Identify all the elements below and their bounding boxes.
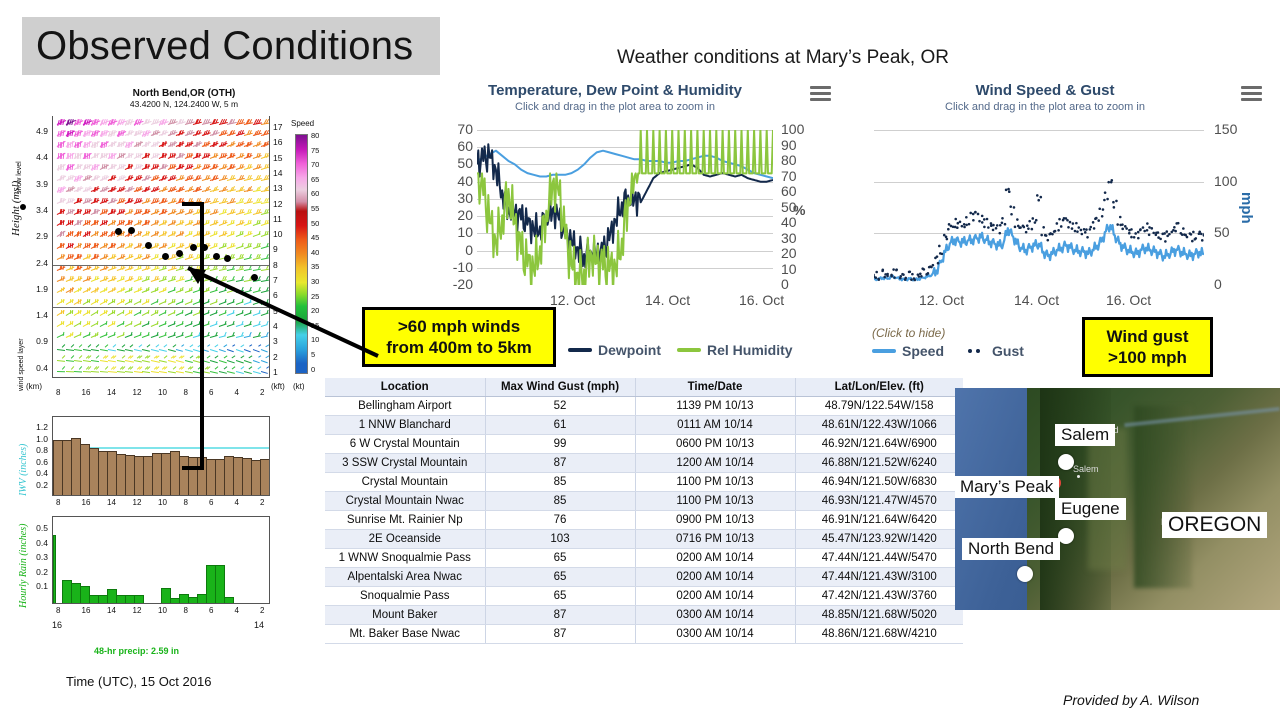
legend-label-dewpoint: Dewpoint xyxy=(598,342,661,358)
table-cell-0: Crystal Mountain Nwac xyxy=(325,492,485,511)
table-cell-2: 0716 PM 10/13 xyxy=(635,530,795,549)
wind-barb xyxy=(261,142,270,151)
table-row: 6 W Crystal Mountain990600 PM 10/1346.92… xyxy=(325,435,963,454)
profiler-ytick-km: 0.9 xyxy=(22,336,48,346)
chart2-click-to-hide-hint: (Click to hide) xyxy=(872,326,945,340)
profile-annotation-bracket xyxy=(182,202,204,470)
wind-barb xyxy=(261,176,270,185)
profiler-station-coords: 43.4200 N, 124.2400 W, 5 m xyxy=(130,99,238,109)
table-cell-3: 48.79N/122.54W/158 xyxy=(795,397,963,416)
callout-wind-gust: Wind gust >100 mph xyxy=(1082,317,1213,377)
wind-profiler-panel: North Bend,OR (OTH) 43.4200 N, 124.2400 … xyxy=(14,86,334,686)
table-cell-1: 52 xyxy=(485,397,635,416)
colorbar-tick: 50 xyxy=(311,219,319,228)
table-cell-3: 46.88N/121.52W/6240 xyxy=(795,454,963,473)
chart1-menu-icon[interactable] xyxy=(810,86,831,101)
colorbar-tick: 75 xyxy=(311,146,319,155)
chart-ytick-right: 0 xyxy=(781,276,789,292)
map-city-label: North Bend xyxy=(962,538,1060,560)
chart-ytick-left: 40 xyxy=(433,173,473,189)
table-cell-0: 6 W Crystal Mountain xyxy=(325,435,485,454)
dewpoint-line-swatch xyxy=(568,348,592,352)
profiler-xtick: 12 xyxy=(133,388,142,397)
legend-item-rel-humidity[interactable]: Rel Humidity xyxy=(677,342,793,358)
speed-line-swatch xyxy=(872,349,896,353)
table-cell-3: 48.86N/121.68W/4210 xyxy=(795,625,963,644)
chart1-title: Temperature, Dew Point & Humidity xyxy=(430,82,800,99)
snow-level-point xyxy=(115,228,122,235)
table-row: Crystal Mountain851100 PM 10/1346.94N/12… xyxy=(325,473,963,492)
colorbar-title: Speed xyxy=(291,119,314,128)
table-row: Mount Baker870300 AM 10/1448.85N/121.68W… xyxy=(325,606,963,625)
colorbar-tick: 0 xyxy=(311,365,315,374)
colorbar-tick: 70 xyxy=(311,160,319,169)
table-row: Bellingham Airport521139 PM 10/1348.79N/… xyxy=(325,397,963,416)
wind-barb xyxy=(261,120,270,129)
callout-wind-profile: >60 mph winds from 400m to 5km xyxy=(362,307,556,367)
profiler-unit-km: (km) xyxy=(26,382,42,391)
table-body: Bellingham Airport521139 PM 10/1348.79N/… xyxy=(325,397,963,644)
table-row: 1 WNW Snoqualmie Pass650200 AM 10/1447.4… xyxy=(325,549,963,568)
time-axis-caption: Time (UTC), 15 Oct 2016 xyxy=(66,674,211,689)
profiler-xtick: 6 xyxy=(209,606,213,615)
profiler-xtick: 12 xyxy=(133,498,142,507)
table-cell-1: 99 xyxy=(485,435,635,454)
legend-item-gust[interactable]: Gust xyxy=(962,343,1024,359)
table-cell-0: Mt. Baker Base Nwac xyxy=(325,625,485,644)
profiler-xtick: 6 xyxy=(209,388,213,397)
profiler-xtick: 16 xyxy=(82,498,91,507)
table-cell-3: 46.91N/121.64W/6420 xyxy=(795,511,963,530)
profiler-ytick-km: 4.4 xyxy=(22,152,48,162)
map-city-label: Salem xyxy=(1055,424,1115,446)
profiler-ytick-kft: 10 xyxy=(273,229,282,239)
chart-ytick-right: 40 xyxy=(781,214,797,230)
chart-ytick-left: -10 xyxy=(433,259,473,275)
profiler-xtick: 8 xyxy=(56,498,60,507)
rel-humidity-line-swatch xyxy=(677,348,701,352)
wind-barb xyxy=(261,199,270,208)
profiler-xtick: 8 xyxy=(56,606,60,615)
max-wind-gust-table: LocationMax Wind Gust (mph)Time/DateLat/… xyxy=(325,378,963,644)
chart-ytick-right: 50 xyxy=(1214,224,1230,240)
table-header-row: LocationMax Wind Gust (mph)Time/DateLat/… xyxy=(325,378,963,397)
legend-label-gust: Gust xyxy=(992,343,1024,359)
table-cell-2: 1200 AM 10/14 xyxy=(635,454,795,473)
table-cell-1: 85 xyxy=(485,492,635,511)
table-cell-0: Bellingham Airport xyxy=(325,397,485,416)
chart-ytick-left: 50 xyxy=(433,155,473,171)
chart-xtick: 12. Oct xyxy=(919,292,964,308)
table-row: 1 NNW Blanchard610111 AM 10/1448.61N/122… xyxy=(325,416,963,435)
rain-ytick: 0.5 xyxy=(22,523,48,533)
chart-series-svg xyxy=(874,130,1204,285)
profiler-xtick: 10 xyxy=(158,498,167,507)
rain-ytick: 0.1 xyxy=(22,581,48,591)
table-cell-2: 0600 PM 10/13 xyxy=(635,435,795,454)
precip-total-note: 48-hr precip: 2.59 in xyxy=(94,646,179,656)
chart-ytick-right: 20 xyxy=(781,245,797,261)
profiler-station-title: North Bend,OR (OTH) 43.4200 N, 124.2400 … xyxy=(94,88,274,110)
credit-text: Provided by A. Wilson xyxy=(1063,692,1199,708)
table-header-2: Time/Date xyxy=(635,378,795,397)
profiler-ytick-km: 0.4 xyxy=(22,363,48,373)
profiler-xtick: 6 xyxy=(209,498,213,507)
rain-ytick: 0.2 xyxy=(22,567,48,577)
table-cell-0: 2E Oceanside xyxy=(325,530,485,549)
chart1-subtitle: Click and drag in the plot area to zoom … xyxy=(430,101,800,113)
legend-label-rel-humidity: Rel Humidity xyxy=(707,342,793,358)
profiler-xtick: 14 xyxy=(107,606,116,615)
wind-barb xyxy=(261,221,270,230)
profiler-xtick: 2 xyxy=(260,606,264,615)
colorbar-tick: 80 xyxy=(311,131,319,140)
profiler-ytick-km: 1.4 xyxy=(22,310,48,320)
table-cell-0: Alpentalski Area Nwac xyxy=(325,568,485,587)
table-cell-2: 0300 AM 10/14 xyxy=(635,625,795,644)
chart-ytick-right: 30 xyxy=(781,230,797,246)
profiler-ytick-kft: 13 xyxy=(273,183,282,193)
table-cell-2: 1100 PM 10/13 xyxy=(635,473,795,492)
iwv-ytick: 0.4 xyxy=(22,468,48,478)
map-basemap-dot xyxy=(1077,475,1080,478)
rain-ytick: 0.4 xyxy=(22,538,48,548)
table-cell-3: 47.42N/121.43W/3760 xyxy=(795,587,963,606)
iwv-ytick: 1.0 xyxy=(22,434,48,444)
page-title-box: Observed Conditions xyxy=(22,17,440,75)
profiler-xtick: 8 xyxy=(184,606,188,615)
table-cell-1: 61 xyxy=(485,416,635,435)
chart-xtick: 14. Oct xyxy=(645,292,690,308)
wind-barb xyxy=(261,367,270,376)
table-cell-3: 46.93N/121.47W/4570 xyxy=(795,492,963,511)
table-cell-3: 48.85N/121.68W/5020 xyxy=(795,606,963,625)
colorbar-tick: 45 xyxy=(311,233,319,242)
rain-bar xyxy=(134,595,144,603)
profiler-ytick-kft: 12 xyxy=(273,199,282,209)
rain-bar xyxy=(53,535,56,603)
table-cell-0: 1 WNW Snoqualmie Pass xyxy=(325,549,485,568)
chart-ytick-right: 50 xyxy=(781,199,797,215)
chart2-subtitle: Click and drag in the plot area to zoom … xyxy=(860,101,1230,113)
colorbar-tick: 60 xyxy=(311,189,319,198)
profiler-xtick: 14 xyxy=(107,388,116,397)
table-cell-0: Sunrise Mt. Rainier Np xyxy=(325,511,485,530)
profiler-xtick: 16 xyxy=(82,388,91,397)
profiler-ytick-km: 2.4 xyxy=(22,258,48,268)
table-row: Crystal Mountain Nwac851100 PM 10/1346.9… xyxy=(325,492,963,511)
table-cell-1: 85 xyxy=(485,473,635,492)
gust-dots-swatch xyxy=(962,349,986,353)
map-label-marys-peak: Mary’s Peak xyxy=(955,476,1059,498)
colorbar-tick: 65 xyxy=(311,175,319,184)
table-cell-1: 65 xyxy=(485,587,635,606)
profiler-ytick-kft: 11 xyxy=(273,214,282,224)
chart-ytick-left: 70 xyxy=(433,121,473,137)
table-cell-0: Mount Baker xyxy=(325,606,485,625)
table-cell-1: 65 xyxy=(485,549,635,568)
chart2-menu-icon[interactable] xyxy=(1241,86,1262,101)
profiler-ytick-km: 4.9 xyxy=(22,126,48,136)
chart2-y2-axis-label: mph xyxy=(1238,192,1255,224)
chart-ytick-left: 20 xyxy=(433,207,473,223)
chart-xtick: 16. Oct xyxy=(739,292,784,308)
table-cell-1: 87 xyxy=(485,625,635,644)
profiler-x-edge-left: 16 xyxy=(52,620,62,630)
wind-barb xyxy=(261,131,270,140)
table-cell-1: 76 xyxy=(485,511,635,530)
profiler-x-edge-right: 14 xyxy=(254,620,264,630)
table-cell-3: 47.44N/121.43W/3100 xyxy=(795,568,963,587)
page-title: Observed Conditions xyxy=(22,24,413,69)
profiler-ytick-km: 3.9 xyxy=(22,179,48,189)
hourly-rain-plot xyxy=(52,516,270,604)
colorbar-unit: (kt) xyxy=(293,382,305,391)
table-cell-2: 1139 PM 10/13 xyxy=(635,397,795,416)
profiler-ytick-km: 3.4 xyxy=(22,205,48,215)
chart-ytick-right: 100 xyxy=(1214,173,1237,189)
slide-root: Observed Conditions Weather conditions a… xyxy=(0,0,1280,720)
table-cell-3: 46.92N/121.64W/6900 xyxy=(795,435,963,454)
legend-item-dewpoint[interactable]: Dewpoint xyxy=(568,342,661,358)
table-cell-3: 46.94N/121.50W/6830 xyxy=(795,473,963,492)
chart2-legend: Speed Gust xyxy=(872,343,1024,359)
table-row: Mt. Baker Base Nwac870300 AM 10/1448.86N… xyxy=(325,625,963,644)
legend-label-speed: Speed xyxy=(902,343,944,359)
table-cell-2: 0111 AM 10/14 xyxy=(635,416,795,435)
profiler-ytick-kft: 15 xyxy=(273,153,282,163)
iwv-bar xyxy=(260,459,270,495)
profiler-xtick: 2 xyxy=(260,388,264,397)
table-cell-1: 65 xyxy=(485,568,635,587)
chart1-legend: Dewpoint Rel Humidity xyxy=(568,342,793,358)
table-header-0: Location xyxy=(325,378,485,397)
profiler-ytick-kft: 16 xyxy=(273,137,282,147)
legend-item-speed[interactable]: Speed xyxy=(872,343,944,359)
table-cell-2: 0900 PM 10/13 xyxy=(635,511,795,530)
chart-xtick: 14. Oct xyxy=(1014,292,1059,308)
chart-ytick-right: 60 xyxy=(781,183,797,199)
callout-wind-gust-line2: >100 mph xyxy=(1108,347,1187,368)
table-header-1: Max Wind Gust (mph) xyxy=(485,378,635,397)
chart-ytick-left: 10 xyxy=(433,224,473,240)
profiler-unit-kft: (kft) xyxy=(271,382,285,391)
table-cell-0: 3 SSW Crystal Mountain xyxy=(325,454,485,473)
chart-ytick-right: 70 xyxy=(781,168,797,184)
iwv-ytick: 0.6 xyxy=(22,457,48,467)
profiler-xtick: 16 xyxy=(82,606,91,615)
table-row: Alpentalski Area Nwac650200 AM 10/1447.4… xyxy=(325,568,963,587)
chart-ytick-right: 10 xyxy=(781,261,797,277)
iwv-ytick: 0.8 xyxy=(22,445,48,455)
wind-barb xyxy=(261,187,270,196)
profiler-xtick: 2 xyxy=(260,498,264,507)
table-cell-1: 87 xyxy=(485,606,635,625)
chart-ytick-right: 90 xyxy=(781,137,797,153)
profiler-xtick: 4 xyxy=(235,388,239,397)
profiler-ytick-km: 2.9 xyxy=(22,231,48,241)
table-row: Snoqualmie Pass650200 AM 10/1447.42N/121… xyxy=(325,587,963,606)
chart-ytick-right: 0 xyxy=(1214,276,1222,292)
table-cell-3: 47.44N/121.44W/5470 xyxy=(795,549,963,568)
table-cell-3: 45.47N/123.92W/1420 xyxy=(795,530,963,549)
chart-ytick-left: 0 xyxy=(433,242,473,258)
rain-bar xyxy=(224,597,234,603)
chart-ytick-left: 30 xyxy=(433,190,473,206)
table-cell-2: 0300 AM 10/14 xyxy=(635,606,795,625)
profiler-xtick: 12 xyxy=(133,606,142,615)
table-cell-0: 1 NNW Blanchard xyxy=(325,416,485,435)
profiler-xtick: 8 xyxy=(184,498,188,507)
chart-ytick-right: 80 xyxy=(781,152,797,168)
callout-wind-profile-line2: from 400m to 5km xyxy=(386,337,532,358)
table-header-3: Lat/Lon/Elev. (ft) xyxy=(795,378,963,397)
profiler-xtick: 14 xyxy=(107,498,116,507)
wind-barb xyxy=(261,165,270,174)
profiler-xtick: 4 xyxy=(235,498,239,507)
table-row: 2E Oceanside1030716 PM 10/1345.47N/123.9… xyxy=(325,530,963,549)
profiler-xtick: 4 xyxy=(235,606,239,615)
table-cell-3: 48.61N/122.43W/1066 xyxy=(795,416,963,435)
wind-barb xyxy=(261,232,270,241)
table-cell-0: Crystal Mountain xyxy=(325,473,485,492)
callout-wind-gust-line1: Wind gust xyxy=(1107,326,1189,347)
iwv-plot xyxy=(52,416,270,496)
chart2-plot-area[interactable] xyxy=(874,130,1204,285)
chart-ytick-left: -20 xyxy=(433,276,473,292)
profiler-xtick: 10 xyxy=(158,388,167,397)
profiler-xtick: 8 xyxy=(56,388,60,397)
map-city-dot xyxy=(1058,528,1074,544)
colorbar-tick: 55 xyxy=(311,204,319,213)
table-cell-1: 103 xyxy=(485,530,635,549)
chart-xtick: 12. Oct xyxy=(550,292,595,308)
wind-barb xyxy=(261,210,270,219)
table-cell-1: 87 xyxy=(485,454,635,473)
chart-ytick-right: 150 xyxy=(1214,121,1237,137)
table-cell-2: 1100 PM 10/13 xyxy=(635,492,795,511)
profiler-ytick-kft: 17 xyxy=(273,122,282,132)
map-cascades xyxy=(1134,406,1193,588)
header-subtitle: Weather conditions at Mary’s Peak, OR xyxy=(617,47,949,69)
map-city-label: Eugene xyxy=(1055,498,1126,520)
map-city-dot xyxy=(1017,566,1033,582)
chart1-plot-area[interactable] xyxy=(477,130,773,285)
chart-xtick: 16. Oct xyxy=(1106,292,1151,308)
rain-ytick: 0.3 xyxy=(22,552,48,562)
chart2-title: Wind Speed & Gust xyxy=(860,82,1230,99)
callout-wind-profile-line1: >60 mph winds xyxy=(398,316,520,337)
profiler-ytick-kft: 1 xyxy=(273,367,278,377)
profiler-ytick-kft: 14 xyxy=(273,168,282,178)
table-row: Sunrise Mt. Rainier Np760900 PM 10/1346.… xyxy=(325,511,963,530)
iwv-ytick: 1.2 xyxy=(22,422,48,432)
table-cell-2: 0200 AM 10/14 xyxy=(635,549,795,568)
chart-ytick-right: 100 xyxy=(781,121,804,137)
profiler-station-name: North Bend,OR (OTH) xyxy=(133,88,236,99)
map-label-state: OREGON xyxy=(1162,512,1267,538)
profiler-ytick-km: 1.9 xyxy=(22,284,48,294)
wind-barb xyxy=(261,154,270,163)
oregon-location-map[interactable]: PortlandSalemBendSalemEugeneNorth BendMa… xyxy=(955,388,1280,610)
table-cell-2: 0200 AM 10/14 xyxy=(635,587,795,606)
chart-series-svg xyxy=(477,130,773,285)
table-row: 3 SSW Crystal Mountain871200 AM 10/1446.… xyxy=(325,454,963,473)
profiler-xtick: 10 xyxy=(158,606,167,615)
table-cell-0: Snoqualmie Pass xyxy=(325,587,485,606)
iwv-ytick: 0.2 xyxy=(22,480,48,490)
snow-level-point xyxy=(128,227,135,234)
map-city-dot xyxy=(1058,454,1074,470)
chart-ytick-left: 60 xyxy=(433,138,473,154)
table-cell-2: 0200 AM 10/14 xyxy=(635,568,795,587)
